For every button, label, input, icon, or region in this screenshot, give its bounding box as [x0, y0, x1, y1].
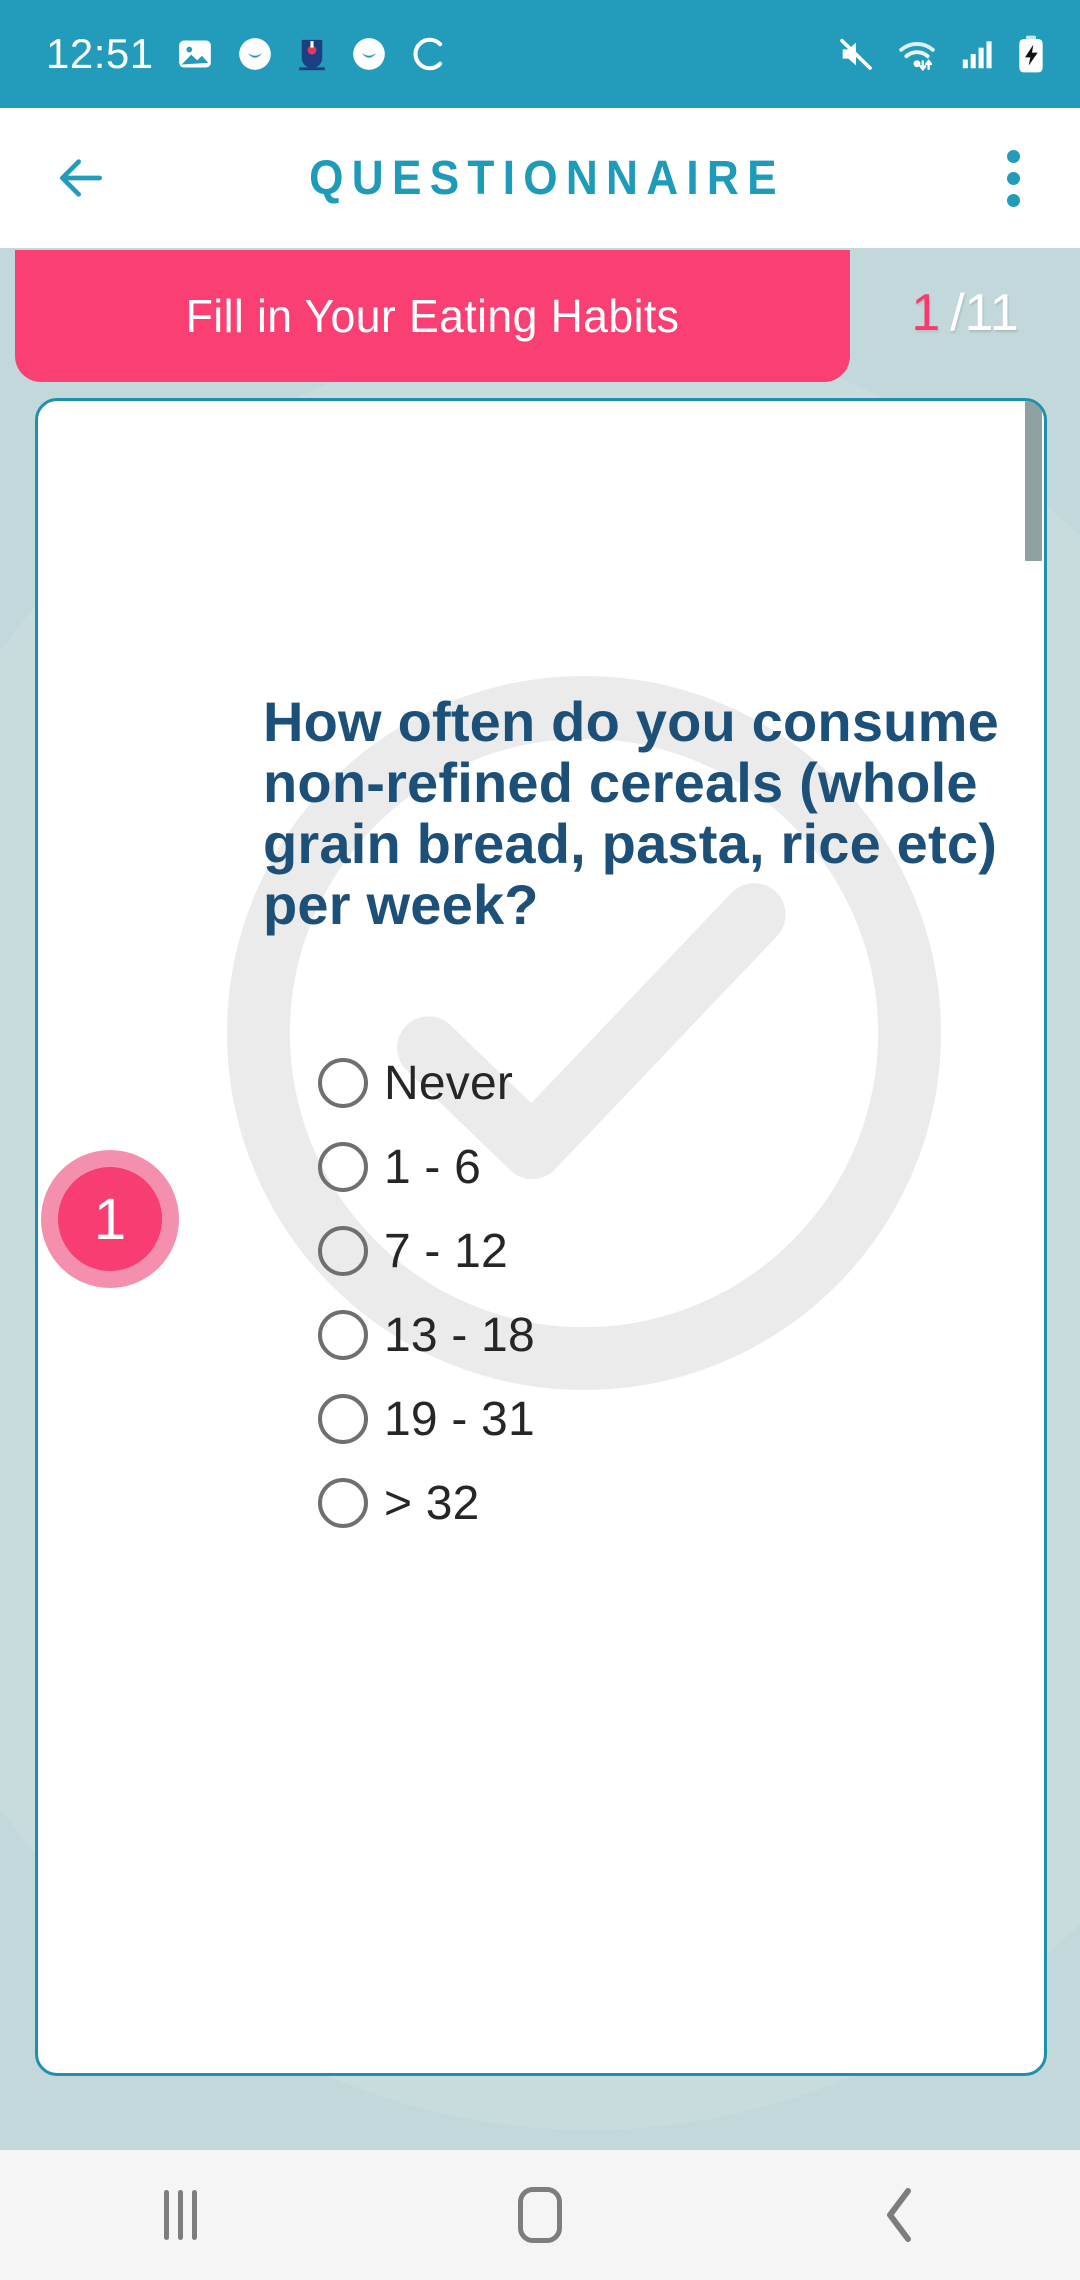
option-row[interactable]: 1 - 6	[318, 1125, 1018, 1209]
app-logo-icon	[296, 36, 328, 72]
card-scrollbar[interactable]	[1024, 401, 1044, 2073]
status-bar: 12:51	[0, 0, 1080, 108]
answer-options: Never 1 - 6 7 - 12 13 - 18 19 - 31 > 32	[318, 1041, 1018, 1545]
image-icon	[176, 35, 214, 73]
kebab-dot	[1007, 172, 1020, 185]
radio-button-icon[interactable]	[318, 1478, 368, 1528]
option-label: 1 - 6	[384, 1140, 481, 1195]
page-title: QUESTIONNAIRE	[152, 151, 941, 206]
nav-back-button[interactable]	[720, 2150, 1080, 2280]
nav-recents-button[interactable]	[0, 2150, 360, 2280]
wifi-icon	[896, 34, 938, 74]
back-button[interactable]	[44, 141, 118, 215]
option-row[interactable]: 7 - 12	[318, 1209, 1018, 1293]
smiley-icon	[236, 35, 274, 73]
phone-screen: 12:51	[0, 0, 1080, 2280]
home-icon	[518, 2187, 562, 2243]
question-number-value: 1	[58, 1167, 162, 1271]
page-counter-current: 1	[911, 283, 940, 343]
section-banner: Fill in Your Eating Habits	[15, 250, 850, 382]
radio-button-icon[interactable]	[318, 1394, 368, 1444]
kebab-dot	[1007, 194, 1020, 207]
mute-icon	[836, 34, 876, 74]
option-label: > 32	[384, 1476, 480, 1531]
recents-icon	[164, 2190, 197, 2240]
radio-button-icon[interactable]	[318, 1142, 368, 1192]
chevron-left-icon	[876, 2185, 924, 2245]
signal-icon	[958, 35, 996, 73]
page-counter-total: /11	[950, 283, 1018, 343]
option-row[interactable]: > 32	[318, 1461, 1018, 1545]
kebab-dot	[1007, 150, 1020, 163]
status-bar-left: 12:51	[46, 30, 836, 78]
nav-home-button[interactable]	[360, 2150, 720, 2280]
option-label: Never	[384, 1056, 513, 1111]
android-nav-bar	[0, 2150, 1080, 2280]
smiley-icon	[350, 35, 388, 73]
overflow-menu-button[interactable]	[976, 141, 1050, 215]
radio-button-icon[interactable]	[318, 1226, 368, 1276]
section-banner-row: Fill in Your Eating Habits 1 /11	[0, 250, 1080, 382]
question-number-badge: 1	[41, 1150, 179, 1288]
status-clock: 12:51	[46, 30, 154, 78]
option-row[interactable]: 19 - 31	[318, 1377, 1018, 1461]
status-bar-right	[836, 34, 1046, 74]
battery-charging-icon	[1016, 34, 1046, 74]
page-counter: 1 /11	[850, 250, 1080, 382]
option-label: 13 - 18	[384, 1308, 535, 1363]
option-label: 19 - 31	[384, 1392, 535, 1447]
question-card: How often do you consume non-refined cer…	[35, 398, 1047, 2076]
radio-button-icon[interactable]	[318, 1058, 368, 1108]
question-text: How often do you consume non-refined cer…	[263, 691, 1023, 935]
option-row[interactable]: Never	[318, 1041, 1018, 1125]
option-label: 7 - 12	[384, 1224, 508, 1279]
option-row[interactable]: 13 - 18	[318, 1293, 1018, 1377]
section-title: Fill in Your Eating Habits	[186, 289, 680, 343]
arrow-left-icon	[53, 150, 109, 206]
sync-icon	[410, 35, 448, 73]
app-bar: QUESTIONNAIRE	[0, 108, 1080, 248]
radio-button-icon[interactable]	[318, 1310, 368, 1360]
scrollbar-thumb[interactable]	[1025, 398, 1042, 561]
